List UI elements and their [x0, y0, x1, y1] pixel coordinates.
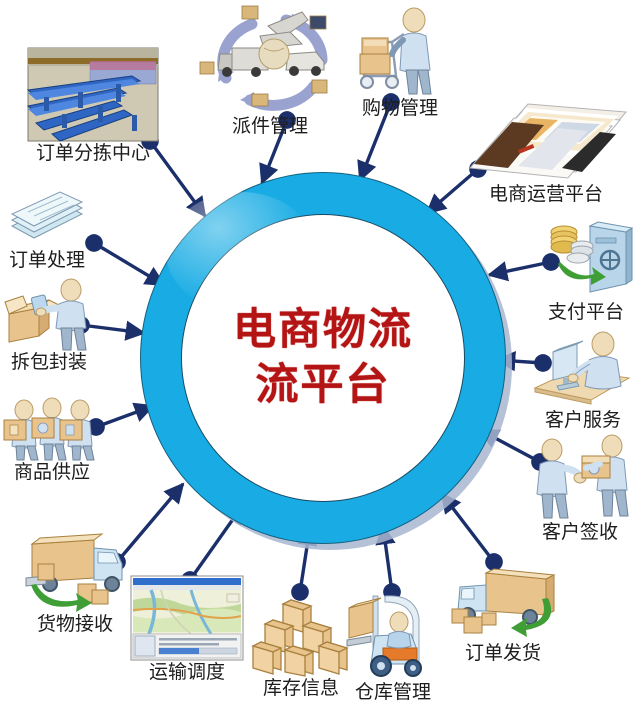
- node-shopping-mgmt[interactable]: 购物管理: [356, 4, 444, 120]
- node-order-shipping[interactable]: 订单发货: [450, 565, 556, 665]
- delivery-truck-out-icon: [450, 565, 556, 641]
- map-window-icon: [131, 576, 243, 660]
- node-customer-signoff[interactable]: 客户签收: [528, 434, 632, 544]
- agent-at-desk-icon: [533, 330, 633, 408]
- node-order-processing[interactable]: 订单处理: [8, 192, 86, 272]
- node-label-delivery-mgmt: 派件管理: [232, 116, 308, 138]
- node-label-customer-service: 客户服务: [545, 410, 621, 432]
- node-customer-service[interactable]: 客户服务: [533, 330, 633, 432]
- conveyor-sorting-photo-icon: [28, 48, 158, 141]
- node-goods-receiving[interactable]: 货物接收: [20, 532, 130, 636]
- node-label-payment-platform: 支付平台: [548, 302, 624, 324]
- node-goods-supply[interactable]: 商品供应: [2, 400, 102, 484]
- node-label-customer-signoff: 客户签收: [542, 522, 618, 544]
- center-hub: 电商物流 流平台: [140, 172, 512, 550]
- node-label-warehouse-mgmt: 仓库管理: [355, 682, 431, 704]
- node-label-order-processing: 订单处理: [9, 250, 85, 272]
- node-label-goods-supply: 商品供应: [14, 462, 90, 484]
- node-label-shopping-mgmt: 购物管理: [362, 98, 438, 120]
- node-label-unpack-package: 拆包封装: [11, 352, 87, 374]
- person-opening-box-icon: [5, 282, 93, 350]
- document-stack-icon: [8, 192, 86, 248]
- node-label-inventory-info: 库存信息: [263, 678, 339, 700]
- node-ecommerce-platform[interactable]: 电商运营平台: [466, 92, 626, 206]
- carton-stack-icon: [253, 596, 349, 676]
- node-sorting-center[interactable]: 订单分拣中心: [28, 48, 158, 165]
- node-label-sorting-center: 订单分拣中心: [36, 143, 150, 165]
- node-unpack-package[interactable]: 拆包封装: [5, 282, 93, 374]
- two-people-parcel-icon: [528, 434, 632, 520]
- delivery-truck-in-icon: [20, 532, 130, 612]
- node-label-goods-receiving: 货物接收: [37, 614, 113, 636]
- node-label-order-shipping: 订单发货: [465, 643, 541, 665]
- person-pushing-cart-icon: [356, 4, 444, 96]
- hub-title-line1: 电商物流: [233, 303, 413, 358]
- page-title: 电商物流 流平台: [140, 172, 506, 544]
- coins-safe-icon: [540, 218, 632, 300]
- forklift-icon: [347, 592, 439, 680]
- node-label-ecommerce-platform: 电商运营平台: [489, 184, 603, 206]
- node-payment-platform[interactable]: 支付平台: [540, 218, 632, 324]
- node-transport-dispatch[interactable]: 运输调度: [131, 576, 243, 684]
- diagram-canvas: 电商物流 流平台: [0, 0, 639, 707]
- node-delivery-mgmt[interactable]: 派件管理: [190, 2, 350, 138]
- transport-cycle-icon: [190, 2, 350, 114]
- node-warehouse-mgmt[interactable]: 仓库管理: [347, 592, 439, 704]
- node-label-transport-dispatch: 运输调度: [149, 662, 225, 684]
- web-pages-stack-icon: [466, 92, 626, 182]
- three-people-boxes-icon: [2, 400, 102, 460]
- hub-title-line2: 流平台: [256, 358, 391, 413]
- node-inventory-info[interactable]: 库存信息: [253, 596, 349, 700]
